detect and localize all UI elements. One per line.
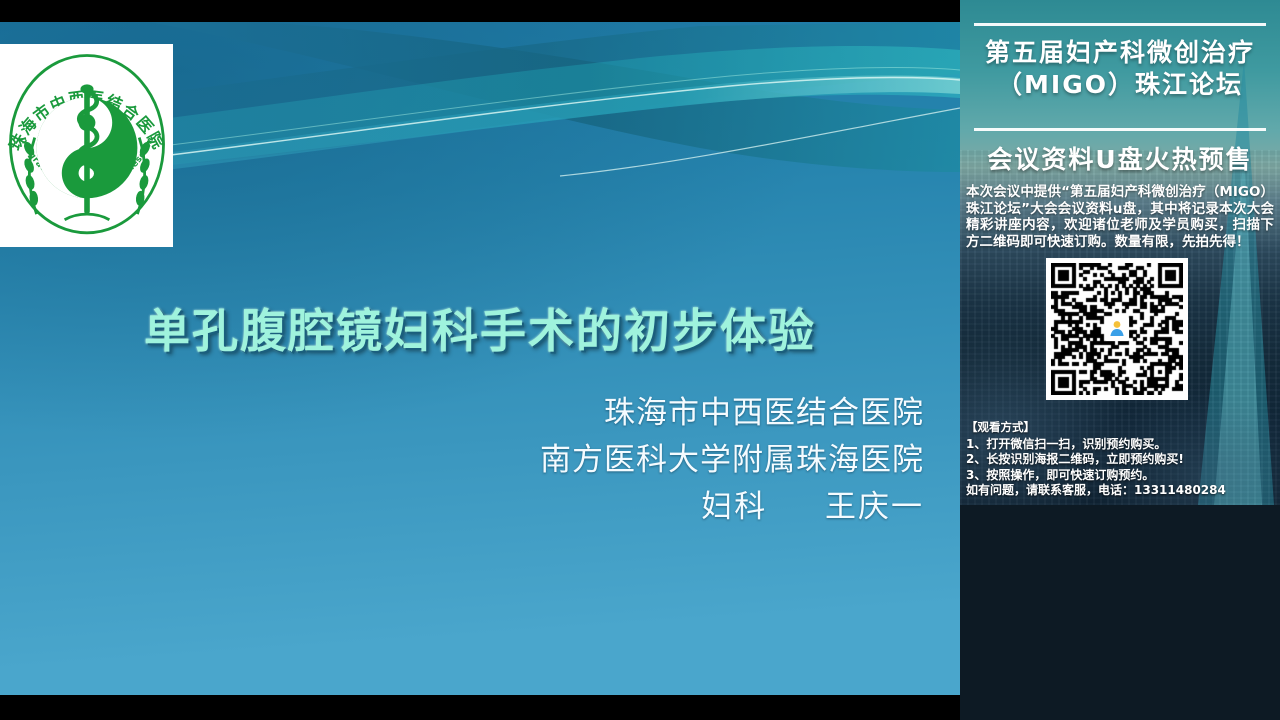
promo-body-text: 本次会议中提供“第五届妇产科微创治疗（MIGO）珠江论坛”大会会议资料u盘，其中… <box>966 184 1274 250</box>
slide-canvas: 单孔腹腔镜妇科手术的初步体验 珠海市中西医结合医院 南方医科大学附属珠海医院 妇… <box>0 22 960 695</box>
promo-headline-line-1: 第五届妇产科微创治疗 <box>960 37 1280 69</box>
slide-title: 单孔腹腔镜妇科手术的初步体验 <box>0 295 960 361</box>
promo-headline-line-2: （MIGO）珠江论坛 <box>960 69 1280 101</box>
instruction-step-3: 3、按照操作，即可快速订购预约。 <box>966 468 1278 484</box>
qr-code[interactable] <box>1046 258 1188 400</box>
divider-middle <box>974 128 1266 131</box>
letterbox-bottom <box>0 695 960 720</box>
qr-center-logo <box>1105 317 1129 341</box>
instruction-step-2: 2、长按识别海报二维码，立即预约购买! <box>966 452 1278 468</box>
promo-instructions: 【观看方式】 1、打开微信扫一扫，识别预约购买。 2、长按识别海报二维码，立即预… <box>966 420 1278 499</box>
letterbox-top <box>0 0 960 22</box>
promo-headline: 第五届妇产科微创治疗 （MIGO）珠江论坛 <box>960 37 1280 101</box>
department-label: 妇科 <box>701 489 767 525</box>
instructions-heading: 【观看方式】 <box>966 420 1278 436</box>
support-contact-line: 如有问题，请联系客服，电话：13311480284 <box>966 483 1278 499</box>
hospital-logo-icon: 珠海市中西医结合医院 Zhuhai Hospital of Integrated… <box>3 48 171 244</box>
wechat-person-icon <box>1107 319 1127 339</box>
screen: 单孔腹腔镜妇科手术的初步体验 珠海市中西医结合医院 南方医科大学附属珠海医院 妇… <box>0 0 1280 720</box>
presenter-line: 妇科 王庆一 <box>0 484 924 531</box>
presentation-slide-pane: 单孔腹腔镜妇科手术的初步体验 珠海市中西医结合医院 南方医科大学附属珠海医院 妇… <box>0 0 960 720</box>
affiliation-line-2: 南方医科大学附属珠海医院 <box>0 437 924 484</box>
presenter-name: 王庆一 <box>825 489 924 525</box>
instruction-step-1: 1、打开微信扫一扫，识别预约购买。 <box>966 437 1278 453</box>
promo-subhead: 会议资料U盘火热预售 <box>960 140 1280 176</box>
divider-top <box>974 23 1266 26</box>
slide-subtitle-block: 珠海市中西医结合医院 南方医科大学附属珠海医院 妇科 王庆一 <box>0 390 924 531</box>
affiliation-line-1: 珠海市中西医结合医院 <box>0 390 924 437</box>
hospital-logo-plate: 珠海市中西医结合医院 Zhuhai Hospital of Integrated… <box>0 44 173 247</box>
promo-sidebar: 第五届妇产科微创治疗 （MIGO）珠江论坛 会议资料U盘火热预售 本次会议中提供… <box>960 0 1280 720</box>
